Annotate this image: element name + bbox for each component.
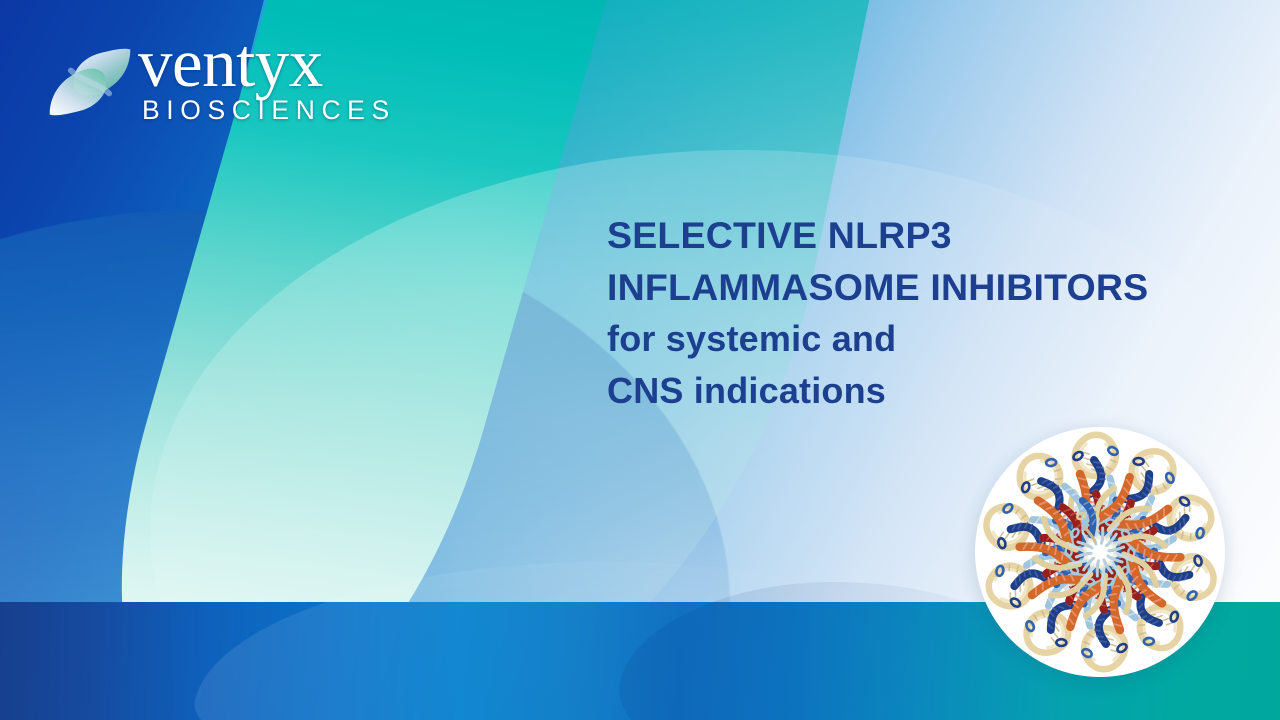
protein-structure-graphic [975, 427, 1225, 677]
nlrp3-structure-svg [975, 427, 1225, 677]
headline-line-3: for systemic and [607, 313, 1247, 365]
logo-text: ventyx BIOSCIENCES [138, 28, 388, 125]
protein-white-disc [975, 427, 1225, 677]
headline-block: SELECTIVE NLRP3 INFLAMMASOME INHIBITORS … [607, 209, 1247, 417]
title-slide: ventyx BIOSCIENCES SELECTIVE NLRP3 INFLA… [0, 0, 1280, 720]
logo: ventyx BIOSCIENCES [42, 28, 382, 136]
headline-line-4: CNS indications [607, 365, 1247, 417]
logo-wordmark: ventyx [138, 28, 388, 98]
headline-line-2: INFLAMMASOME INHIBITORS [607, 261, 1247, 313]
logo-tagline: BIOSCIENCES [142, 95, 388, 125]
headline-line-1: SELECTIVE NLRP3 [607, 209, 1247, 261]
ventyx-swirl-icon [42, 34, 138, 130]
